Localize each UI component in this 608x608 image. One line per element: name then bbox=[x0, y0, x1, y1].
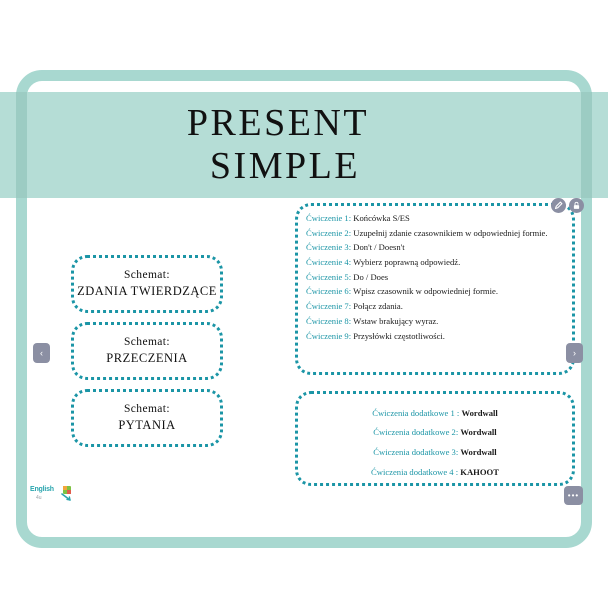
exercise-label: Ćwiczenie 6: bbox=[306, 286, 351, 296]
exercise-label: Ćwiczenie 9: bbox=[306, 331, 351, 341]
schema-top-label: Schemat: bbox=[124, 336, 170, 348]
exercise-text: Wybierz poprawną odpowiedź. bbox=[353, 257, 460, 267]
exercise-text: Wstaw brakujący wyraz. bbox=[353, 316, 438, 326]
lock-icon bbox=[572, 201, 581, 210]
exercise-label: Ćwiczenie 4: bbox=[306, 257, 351, 267]
title-banner bbox=[0, 92, 608, 198]
edit-button[interactable] bbox=[551, 198, 566, 213]
schema-main-label: PYTANIA bbox=[118, 418, 175, 433]
logo-sub: 4u bbox=[36, 495, 42, 501]
exercise-item[interactable]: Ćwiczenie 6: Wpisz czasownik w odpowiedn… bbox=[306, 287, 564, 296]
exercise-label: Ćwiczenie 5: bbox=[306, 272, 351, 282]
exercise-item[interactable]: Ćwiczenie 8: Wstaw brakujący wyraz. bbox=[306, 317, 564, 326]
schema-box-zdania-twierdzace[interactable]: Schemat: ZDANIA TWIERDZĄCE bbox=[71, 255, 223, 313]
extra-exercise-text: Wordwall bbox=[460, 447, 496, 457]
exercise-item[interactable]: Ćwiczenie 7: Połącz zdania. bbox=[306, 302, 564, 311]
exercise-text: Do / Does bbox=[353, 272, 388, 282]
extra-exercise-text: Wordwall bbox=[461, 408, 497, 418]
extra-exercise-label: Ćwiczenia dodatkowe 3: bbox=[373, 447, 458, 457]
lock-button[interactable] bbox=[569, 198, 584, 213]
extra-exercise-item[interactable]: Ćwiczenia dodatkowe 1 : Wordwall bbox=[298, 409, 572, 418]
next-slide-button[interactable]: › bbox=[566, 343, 583, 363]
extra-exercise-label: Ćwiczenia dodatkowe 2: bbox=[373, 427, 458, 437]
more-options-button[interactable]: ••• bbox=[564, 486, 583, 505]
schema-box-pytania[interactable]: Schemat: PYTANIA bbox=[71, 389, 223, 447]
exercise-text: Uzupełnij zdanie czasownikiem w odpowied… bbox=[353, 228, 547, 238]
pencil-icon bbox=[554, 201, 563, 210]
exercise-text: Końcówka S/ES bbox=[353, 213, 410, 223]
schema-main-label: ZDANIA TWIERDZĄCE bbox=[77, 284, 217, 299]
prev-slide-button[interactable]: ‹ bbox=[33, 343, 50, 363]
exercise-item[interactable]: Ćwiczenie 2: Uzupełnij zdanie czasowniki… bbox=[306, 229, 564, 238]
exercise-text: Don't / Doesn't bbox=[353, 242, 404, 252]
logo-mark-icon bbox=[56, 484, 76, 504]
exercise-item[interactable]: Ćwiczenie 3: Don't / Doesn't bbox=[306, 243, 564, 252]
schema-top-label: Schemat: bbox=[124, 269, 170, 281]
extra-exercise-item[interactable]: Ćwiczenia dodatkowe 4 : KAHOOT bbox=[298, 468, 572, 477]
extra-exercise-label: Ćwiczenia dodatkowe 1 : bbox=[372, 408, 459, 418]
exercise-label: Ćwiczenie 7: bbox=[306, 301, 351, 311]
brand-logo[interactable]: English 4u bbox=[30, 484, 76, 506]
exercise-item[interactable]: Ćwiczenie 1: Końcówka S/ES bbox=[306, 214, 564, 223]
exercise-item[interactable]: Ćwiczenie 9: Przysłówki częstotliwości. bbox=[306, 332, 564, 341]
exercise-item[interactable]: Ćwiczenie 5: Do / Does bbox=[306, 273, 564, 282]
exercise-text: Wpisz czasownik w odpowiedniej formie. bbox=[353, 286, 498, 296]
exercise-label: Ćwiczenie 1: bbox=[306, 213, 351, 223]
exercise-label: Ćwiczenie 2: bbox=[306, 228, 351, 238]
banner-right-edge bbox=[581, 92, 592, 198]
extra-exercise-box[interactable]: Ćwiczenia dodatkowe 1 : Wordwall Ćwiczen… bbox=[295, 391, 575, 486]
schema-box-przeczenia[interactable]: Schemat: PRZECZENIA bbox=[71, 322, 223, 380]
exercise-label: Ćwiczenie 8: bbox=[306, 316, 351, 326]
extra-exercise-text: Wordwall bbox=[460, 427, 496, 437]
extra-exercise-item[interactable]: Ćwiczenia dodatkowe 2: Wordwall bbox=[298, 428, 572, 437]
extra-exercise-text: KAHOOT bbox=[460, 467, 499, 477]
extra-exercise-label: Ćwiczenia dodatkowe 4 : bbox=[371, 467, 458, 477]
banner-left-edge bbox=[16, 92, 27, 198]
schema-main-label: PRZECZENIA bbox=[106, 351, 187, 366]
exercise-item[interactable]: Ćwiczenie 4: Wybierz poprawną odpowiedź. bbox=[306, 258, 564, 267]
exercise-text: Przysłówki częstotliwości. bbox=[353, 331, 445, 341]
exercise-label: Ćwiczenie 3: bbox=[306, 242, 351, 252]
exercise-list-box[interactable]: Ćwiczenie 1: Końcówka S/ES Ćwiczenie 2: … bbox=[295, 203, 575, 375]
schema-top-label: Schemat: bbox=[124, 403, 170, 415]
extra-exercise-item[interactable]: Ćwiczenia dodatkowe 3: Wordwall bbox=[298, 448, 572, 457]
logo-word: English bbox=[30, 486, 54, 493]
exercise-text: Połącz zdania. bbox=[353, 301, 403, 311]
